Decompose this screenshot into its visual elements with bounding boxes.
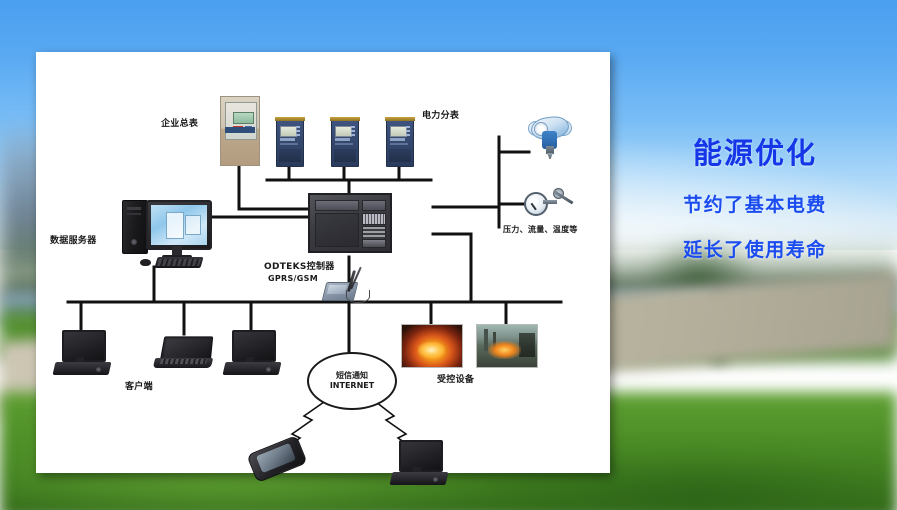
meter-lcd bbox=[335, 126, 352, 137]
client-power-led bbox=[266, 367, 271, 372]
label-clients: 客户端 bbox=[125, 379, 153, 392]
remote-mobile-phone[interactable] bbox=[250, 444, 304, 474]
controlled-equipment-furnace[interactable] bbox=[401, 324, 463, 368]
meter-face bbox=[225, 102, 257, 140]
gauge-face bbox=[524, 192, 548, 216]
meter-bar bbox=[335, 138, 350, 141]
meter-bar bbox=[390, 138, 405, 141]
controller-display bbox=[315, 200, 359, 211]
power-sub-meter-1[interactable] bbox=[276, 119, 304, 167]
remote-desktop-pc[interactable] bbox=[391, 440, 447, 486]
gauge-needle bbox=[531, 203, 537, 210]
meter-base bbox=[334, 149, 356, 162]
label-controlled-equipment: 受控设备 bbox=[437, 372, 474, 385]
controller-buttons[interactable] bbox=[362, 239, 386, 248]
power-sub-meter-2[interactable] bbox=[331, 119, 359, 167]
meter-top-cap bbox=[275, 117, 305, 121]
furnace-glow bbox=[418, 342, 446, 358]
plant-shadow bbox=[519, 333, 535, 357]
gprs-gsm-modem[interactable] bbox=[324, 274, 366, 302]
enterprise-main-meter[interactable] bbox=[220, 96, 260, 166]
meter-top-cap bbox=[385, 117, 415, 121]
modem-face bbox=[327, 285, 347, 294]
label-controller: ODTEKS控制器 bbox=[264, 259, 335, 272]
meter-bar-2 bbox=[390, 143, 408, 145]
benefit-line-1: 节约了基本电费 bbox=[620, 190, 890, 217]
modem-cable bbox=[346, 290, 370, 303]
screen-window-1 bbox=[166, 212, 185, 239]
remote-monitor bbox=[399, 440, 443, 472]
remote-case bbox=[389, 472, 448, 485]
controller-display-2 bbox=[362, 200, 386, 211]
client-case bbox=[222, 362, 281, 375]
diagram-panel: 企业总表 电力分表 bbox=[36, 52, 610, 473]
meter-lcd bbox=[390, 126, 407, 137]
odteks-controller[interactable] bbox=[308, 193, 392, 253]
server-mouse[interactable] bbox=[140, 259, 151, 266]
laptop-screen bbox=[163, 339, 210, 359]
meter-leds bbox=[351, 126, 355, 138]
meter-bar-2 bbox=[280, 143, 298, 145]
label-data-server: 数据服务器 bbox=[50, 233, 97, 246]
meter-terminal-strip bbox=[225, 127, 255, 133]
client-monitor bbox=[232, 330, 276, 362]
label-sensors: 压力、流量、温度等 bbox=[503, 224, 578, 235]
transmitter-neck bbox=[546, 146, 554, 154]
power-button[interactable] bbox=[131, 239, 137, 245]
meter-lcd bbox=[233, 112, 254, 124]
label-gprs: GPRS/GSM bbox=[268, 274, 318, 283]
client-desktop-2[interactable] bbox=[224, 330, 280, 376]
server-keyboard[interactable] bbox=[154, 257, 203, 268]
data-server-monitor[interactable] bbox=[146, 200, 212, 250]
headline-title: 能源优化 bbox=[620, 130, 890, 172]
meter-base bbox=[389, 149, 411, 162]
client-monitor bbox=[62, 330, 106, 362]
client-desktop-1[interactable] bbox=[54, 330, 110, 376]
meter-leds bbox=[406, 126, 410, 138]
client-case bbox=[52, 362, 111, 375]
keyboard-keys bbox=[157, 259, 201, 266]
remote-power-led bbox=[433, 477, 438, 482]
monitor-screen bbox=[151, 205, 207, 245]
drive-bay-2 bbox=[127, 213, 141, 215]
meter-bar-2 bbox=[335, 143, 353, 145]
controller-main-panel bbox=[315, 213, 359, 247]
screen-window-2 bbox=[185, 215, 202, 235]
system-architecture-diagram: 企业总表 电力分表 bbox=[36, 52, 610, 473]
monitor-stand bbox=[172, 246, 182, 255]
data-server-tower[interactable] bbox=[122, 200, 148, 254]
internet-node-line2: INTERNET bbox=[330, 381, 374, 391]
meter-lcd bbox=[280, 126, 297, 137]
laptop-base bbox=[153, 358, 213, 368]
marketing-text-block: 能源优化 节约了基本电费 延长了使用寿命 bbox=[620, 130, 890, 262]
label-main-meter: 企业总表 bbox=[161, 116, 198, 129]
client-laptop[interactable] bbox=[154, 336, 212, 370]
meter-leds bbox=[296, 126, 300, 138]
transmitter-probe-tip bbox=[547, 153, 553, 159]
controller-terminals bbox=[362, 213, 386, 225]
meter-bar bbox=[280, 138, 295, 141]
drive-bay bbox=[127, 207, 141, 210]
controlled-equipment-plant[interactable] bbox=[476, 324, 538, 368]
meter-base bbox=[279, 149, 301, 162]
client-power-led bbox=[96, 367, 101, 372]
laptop-keyboard[interactable] bbox=[160, 359, 207, 364]
meter-top-cap bbox=[330, 117, 360, 121]
internet-node-line1: 短信通知 bbox=[336, 371, 368, 381]
power-sub-meter-3[interactable] bbox=[386, 119, 414, 167]
plant-flame bbox=[488, 341, 521, 359]
benefit-line-2: 延长了使用寿命 bbox=[620, 235, 890, 262]
internet-sms-node[interactable]: 短信通知 INTERNET bbox=[307, 352, 397, 410]
label-sub-meters: 电力分表 bbox=[422, 108, 459, 121]
pressure-transmitter[interactable] bbox=[529, 115, 571, 159]
pressure-gauge-thermocouple[interactable] bbox=[524, 188, 578, 220]
gauge-stem bbox=[543, 200, 557, 204]
